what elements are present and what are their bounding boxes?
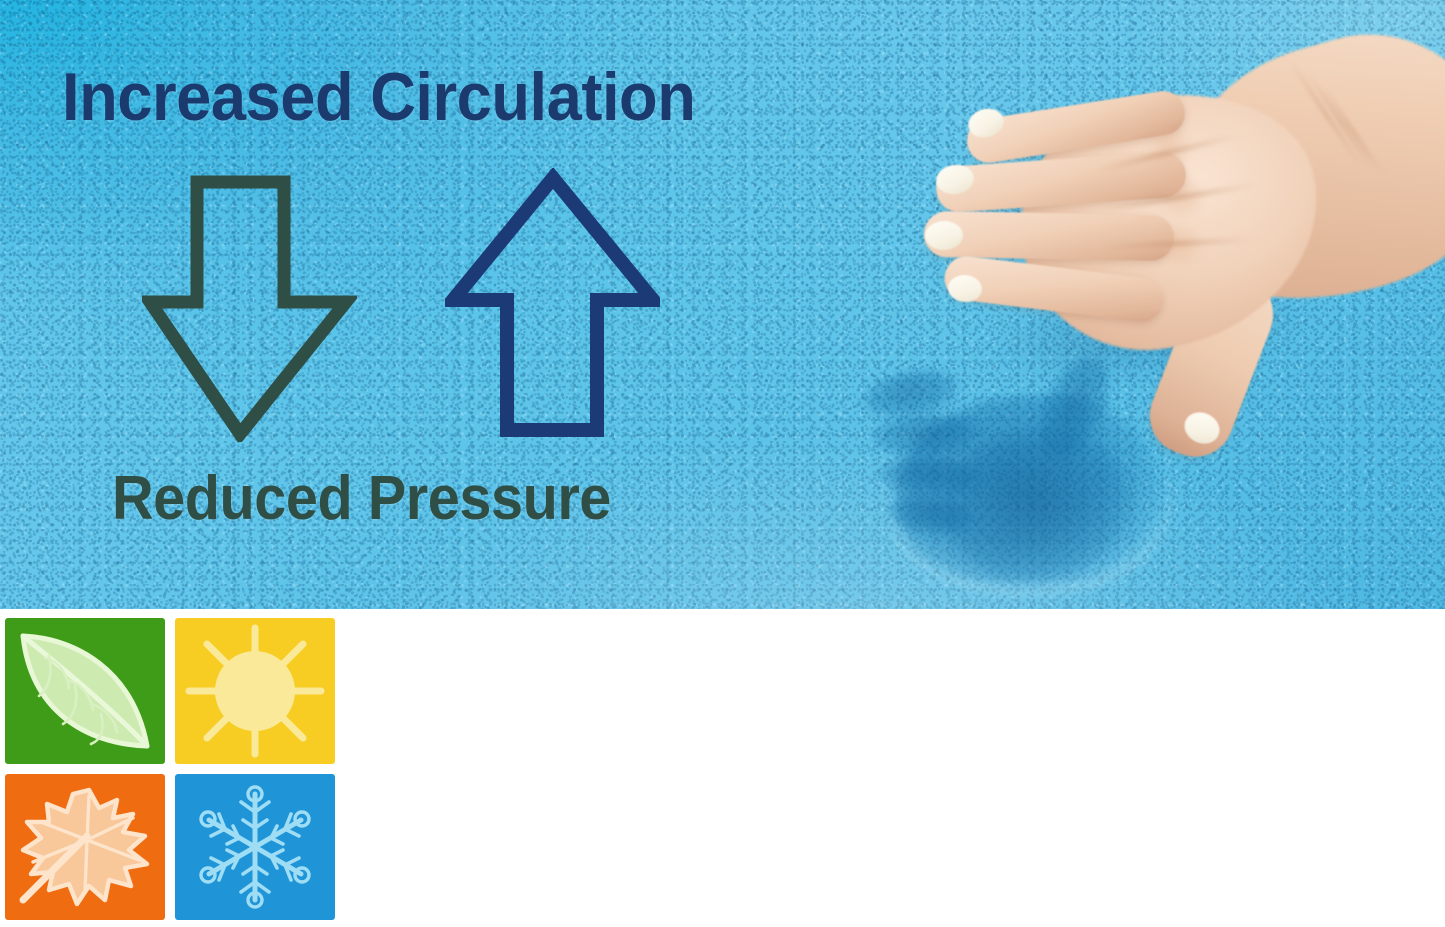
season-tile-spring <box>5 618 165 764</box>
increased-circulation-label: Increased Circulation <box>62 58 695 136</box>
arrow-down-outline <box>150 182 346 434</box>
hand-pressing-icon <box>840 55 1445 475</box>
reduced-pressure-label: Reduced Pressure <box>112 463 611 534</box>
arrow-down-icon <box>142 172 357 442</box>
season-tile-winter <box>175 774 335 920</box>
season-tile-autumn <box>5 774 165 920</box>
season-icon-grid <box>5 618 335 920</box>
leaf-icon <box>5 618 165 764</box>
arrow-up-outline <box>453 178 653 430</box>
season-tile-summer <box>175 618 335 764</box>
sun-disc <box>215 651 295 731</box>
arrow-up-icon <box>445 168 660 440</box>
product-feature-image: Increased Circulation Reduced Pressure <box>0 0 1445 927</box>
sun-icon <box>175 618 335 764</box>
gel-foam-photo-panel: Increased Circulation Reduced Pressure <box>0 0 1445 609</box>
bottom-info-band: 100% GEL-Infused Memory Foam with Temper… <box>0 609 1445 927</box>
maple-leaf-icon <box>5 774 165 920</box>
snowflake-icon <box>175 774 335 920</box>
